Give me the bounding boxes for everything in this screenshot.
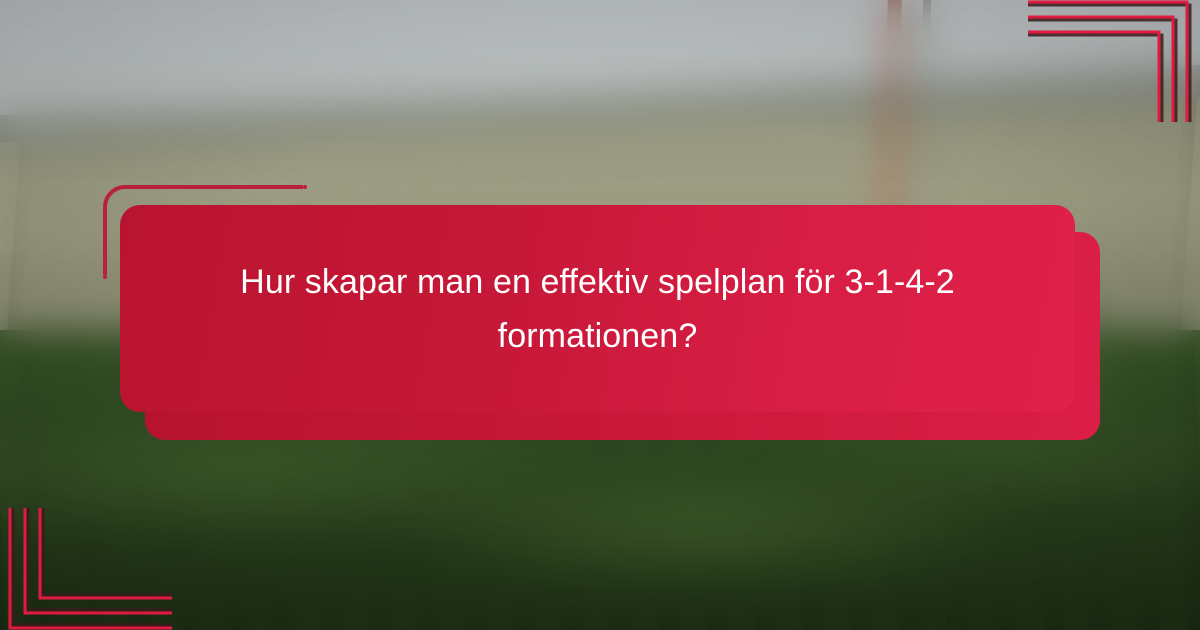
headline-card: Hur skapar man en effektiv spelplan för … (120, 205, 1075, 412)
corner-decoration-top-right-icon (1028, 0, 1200, 122)
og-image-canvas: Hur skapar man en effektiv spelplan för … (0, 0, 1200, 630)
page-title: Hur skapar man en effektiv spelplan för … (218, 255, 978, 363)
corner-decoration-bottom-left-icon (0, 508, 172, 630)
